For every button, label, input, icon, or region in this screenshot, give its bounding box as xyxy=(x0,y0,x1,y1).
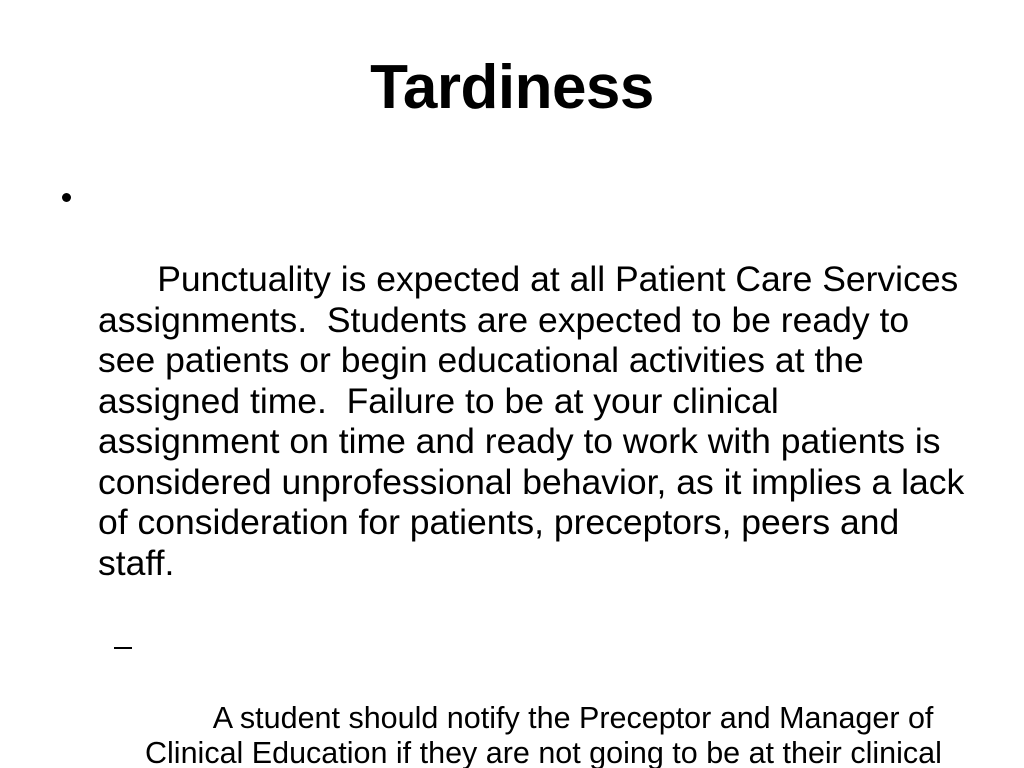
bullet-dot-icon xyxy=(62,193,71,202)
slide-body: Punctuality is expected at all Patient C… xyxy=(56,178,968,768)
list-item-text: A student should notify the Preceptor an… xyxy=(145,701,950,768)
sub-list: A student should notify the Preceptor an… xyxy=(56,630,968,768)
bullet-dash-icon xyxy=(114,647,132,650)
list-item: A student should notify the Preceptor an… xyxy=(112,630,968,768)
slide: Tardiness Punctuality is expected at all… xyxy=(0,0,1024,768)
list-item: Punctuality is expected at all Patient C… xyxy=(56,178,968,624)
page-title: Tardiness xyxy=(0,55,1024,120)
list-item-text: Punctuality is expected at all Patient C… xyxy=(98,259,974,583)
